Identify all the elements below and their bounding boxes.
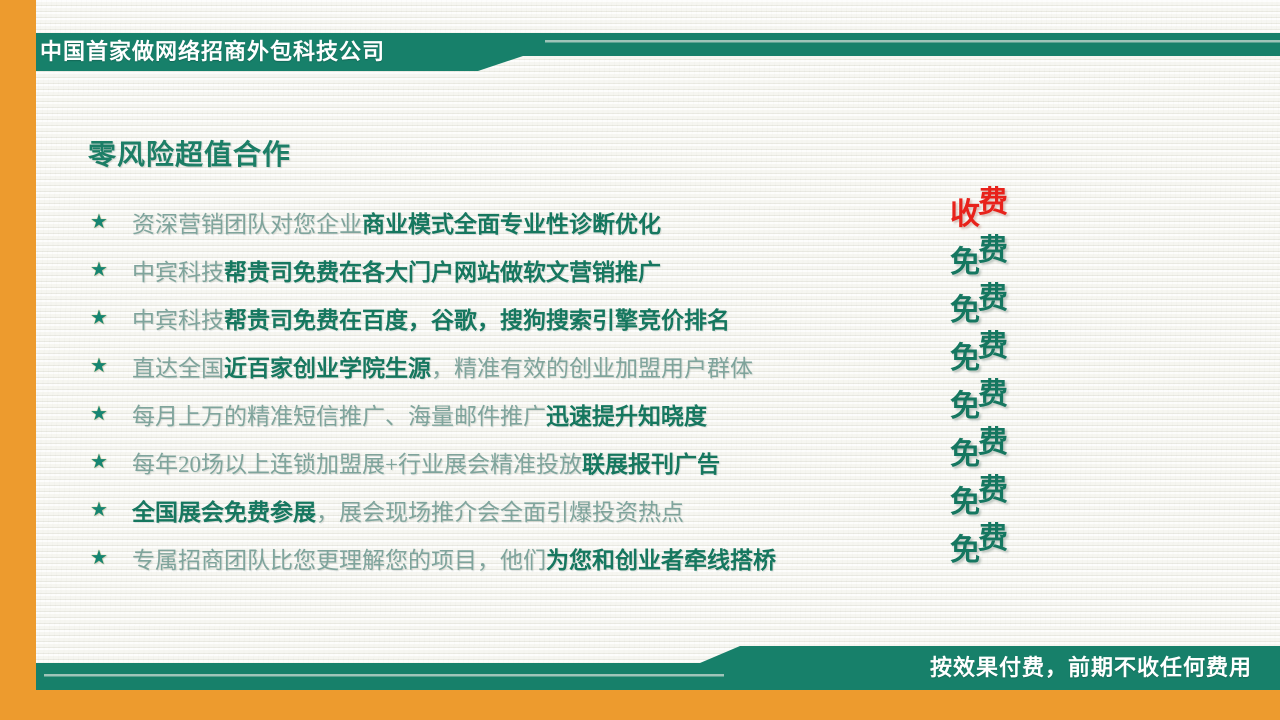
star-icon: ★ bbox=[90, 212, 132, 232]
list-item-text: 中宾科技帮贵司免费在各大门户网站做软文营销推广 bbox=[132, 253, 661, 287]
price-badge-free: 免费 bbox=[950, 334, 1008, 364]
text-bold: 商业模式全面专业性诊断优化 bbox=[362, 212, 661, 237]
text-plain: 每年20场以上连锁加盟展+行业展会精准投放 bbox=[132, 452, 582, 477]
text-plain: 每月上万的精准短信推广、海量邮件推广 bbox=[132, 404, 546, 429]
list-item: ★ 资深营销团队对您企业商业模式全面专业性诊断优化 bbox=[90, 198, 960, 246]
price-char-2: 费 bbox=[978, 236, 1008, 266]
price-char-2: 费 bbox=[978, 476, 1008, 506]
price-char-1: 免 bbox=[950, 344, 980, 374]
price-char-1: 免 bbox=[950, 488, 980, 518]
price-column: 收费 免费 免费 免费 免费 免费 免费 免费 bbox=[950, 192, 1070, 576]
price-badge-free: 免费 bbox=[950, 478, 1008, 508]
price-char-2: 费 bbox=[978, 428, 1008, 458]
text-tail: ，精准有效的创业加盟用户群体 bbox=[431, 356, 753, 381]
price-badge-free: 免费 bbox=[950, 238, 1008, 268]
benefit-list: ★ 资深营销团队对您企业商业模式全面专业性诊断优化 ★ 中宾科技帮贵司免费在各大… bbox=[90, 198, 960, 582]
star-icon: ★ bbox=[90, 356, 132, 376]
text-plain: 专属招商团队比您更理解您的项目，他们 bbox=[132, 548, 546, 573]
price-cell: 免费 bbox=[950, 288, 1070, 336]
header-title: 中国首家做网络招商外包科技公司 bbox=[40, 35, 385, 69]
star-icon: ★ bbox=[90, 548, 132, 568]
price-badge-free: 免费 bbox=[950, 526, 1008, 556]
list-item: ★ 每月上万的精准短信推广、海量邮件推广迅速提升知晓度 bbox=[90, 390, 960, 438]
list-item-text: 中宾科技帮贵司免费在百度，谷歌，搜狗搜索引擎竞价排名 bbox=[132, 301, 730, 335]
text-tail: ，展会现场推介会全面引爆投资热点 bbox=[316, 500, 684, 525]
text-bold: 迅速提升知晓度 bbox=[546, 404, 707, 429]
star-icon: ★ bbox=[90, 260, 132, 280]
text-bold: 全国展会免费参展 bbox=[132, 500, 316, 525]
list-item-text: 直达全国近百家创业学院生源，精准有效的创业加盟用户群体 bbox=[132, 349, 753, 383]
star-icon: ★ bbox=[90, 404, 132, 424]
text-bold: 近百家创业学院生源 bbox=[224, 356, 431, 381]
text-plain: 直达全国 bbox=[132, 356, 224, 381]
list-item-text: 资深营销团队对您企业商业模式全面专业性诊断优化 bbox=[132, 205, 661, 239]
price-char-1: 免 bbox=[950, 536, 980, 566]
price-char-2: 费 bbox=[978, 188, 1008, 218]
price-char-2: 费 bbox=[978, 380, 1008, 410]
list-item: ★ 专属招商团队比您更理解您的项目，他们为您和创业者牵线搭桥 bbox=[90, 534, 960, 582]
price-cell: 免费 bbox=[950, 432, 1070, 480]
price-char-1: 免 bbox=[950, 296, 980, 326]
text-bold: 联展报刊广告 bbox=[582, 452, 720, 477]
star-icon: ★ bbox=[90, 452, 132, 472]
price-char-2: 费 bbox=[978, 332, 1008, 362]
text-bold: 为您和创业者牵线搭桥 bbox=[546, 548, 776, 573]
price-cell: 免费 bbox=[950, 336, 1070, 384]
footer-title: 按效果付费，前期不收任何费用 bbox=[930, 650, 1252, 686]
text-bold: 帮贵司免费在百度，谷歌，搜狗搜索引擎竞价排名 bbox=[224, 308, 730, 333]
price-cell: 免费 bbox=[950, 384, 1070, 432]
slide: 中国首家做网络招商外包科技公司 零风险超值合作 ★ 资深营销团队对您企业商业模式… bbox=[0, 0, 1280, 720]
price-char-1: 免 bbox=[950, 248, 980, 278]
price-badge-free: 免费 bbox=[950, 382, 1008, 412]
price-badge-paid: 收费 bbox=[950, 190, 1008, 220]
text-plain: 中宾科技 bbox=[132, 260, 224, 285]
price-cell: 免费 bbox=[950, 528, 1070, 576]
list-item: ★ 直达全国近百家创业学院生源，精准有效的创业加盟用户群体 bbox=[90, 342, 960, 390]
list-item: ★ 每年20场以上连锁加盟展+行业展会精准投放联展报刊广告 bbox=[90, 438, 960, 486]
text-plain: 中宾科技 bbox=[132, 308, 224, 333]
list-item-text: 每年20场以上连锁加盟展+行业展会精准投放联展报刊广告 bbox=[132, 445, 720, 479]
price-char-1: 免 bbox=[950, 392, 980, 422]
list-item: ★ 中宾科技帮贵司免费在百度，谷歌，搜狗搜索引擎竞价排名 bbox=[90, 294, 960, 342]
price-char-1: 免 bbox=[950, 440, 980, 470]
price-char-2: 费 bbox=[978, 524, 1008, 554]
text-bold: 帮贵司免费在各大门户网站做软文营销推广 bbox=[224, 260, 661, 285]
price-badge-free: 免费 bbox=[950, 286, 1008, 316]
star-icon: ★ bbox=[90, 308, 132, 328]
price-cell: 免费 bbox=[950, 240, 1070, 288]
star-icon: ★ bbox=[90, 500, 132, 520]
list-item-text: 全国展会免费参展，展会现场推介会全面引爆投资热点 bbox=[132, 493, 684, 527]
price-char-1: 收 bbox=[950, 200, 980, 230]
price-badge-free: 免费 bbox=[950, 430, 1008, 460]
list-item-text: 专属招商团队比您更理解您的项目，他们为您和创业者牵线搭桥 bbox=[132, 541, 776, 575]
page-title: 零风险超值合作 bbox=[88, 133, 291, 173]
list-item-text: 每月上万的精准短信推广、海量邮件推广迅速提升知晓度 bbox=[132, 397, 707, 431]
list-item: ★ 全国展会免费参展，展会现场推介会全面引爆投资热点 bbox=[90, 486, 960, 534]
list-item: ★ 中宾科技帮贵司免费在各大门户网站做软文营销推广 bbox=[90, 246, 960, 294]
price-cell: 免费 bbox=[950, 480, 1070, 528]
price-char-2: 费 bbox=[978, 284, 1008, 314]
price-cell: 收费 bbox=[950, 192, 1070, 240]
text-plain: 资深营销团队对您企业 bbox=[132, 212, 362, 237]
